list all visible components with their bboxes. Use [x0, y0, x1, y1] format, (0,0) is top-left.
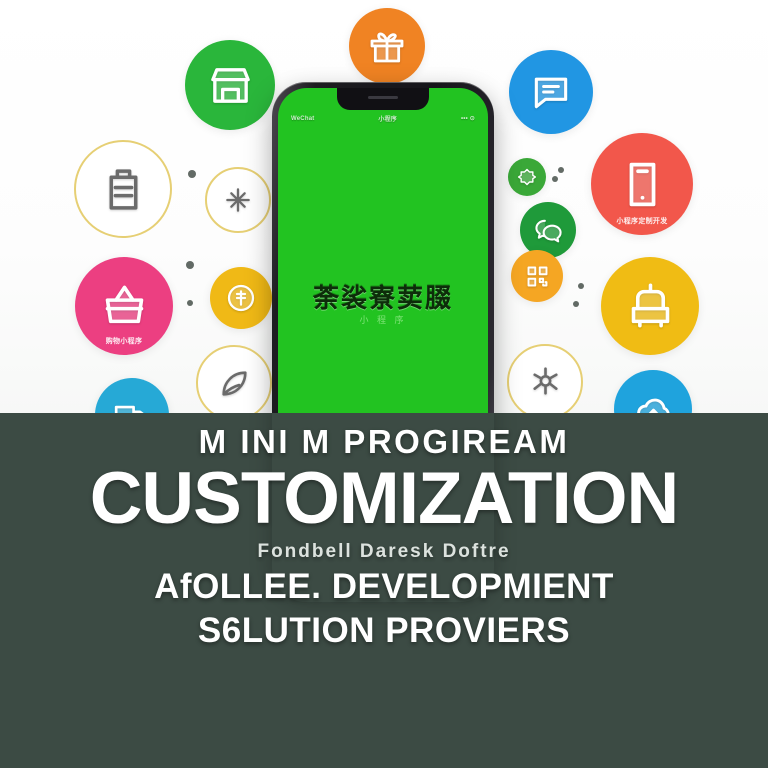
- decorative-dot: [186, 261, 194, 269]
- chat-glyph: [529, 70, 573, 114]
- leaf-glyph: [216, 365, 253, 402]
- headline-block: M INI M PROGIREAM CUSTOMIZATION Fondbell…: [0, 423, 768, 651]
- store-icon: [185, 40, 275, 130]
- decorative-dot: [552, 176, 558, 182]
- decorative-dot: [187, 300, 193, 306]
- flower-glyph: [527, 364, 564, 401]
- sparkle-icon: [205, 167, 271, 233]
- qr-code-icon: [511, 250, 563, 302]
- decorative-dot: [573, 301, 579, 307]
- headline-line-4: AfOLLEE. DEVELOPMIENT: [0, 567, 768, 607]
- basket-glyph: [99, 281, 150, 332]
- seat-glyph: [625, 281, 676, 332]
- app-glyph: [616, 158, 669, 211]
- flower-icon: [507, 344, 583, 414]
- screen-headline-primary: 荼裟寮荬腏: [278, 278, 488, 315]
- bubble-caption: 小程序定制开发: [591, 216, 693, 226]
- status-title: 小程序: [314, 114, 461, 123]
- cloud-glyph: [633, 389, 674, 415]
- coin-glyph: [225, 282, 257, 314]
- sparkle-glyph: [222, 184, 254, 216]
- headline-line-3: Fondbell Daresk Doftre: [0, 541, 768, 563]
- status-left: WeChat: [291, 116, 314, 122]
- document-icon: [74, 140, 172, 238]
- gift-glyph: [367, 26, 407, 66]
- phone-speaker: [368, 96, 398, 99]
- chat-bubble-icon: [509, 50, 593, 134]
- badge-icon: [508, 158, 546, 196]
- mobile-app-icon: 小程序定制开发: [591, 133, 693, 235]
- status-right: ••• ⊙: [461, 115, 475, 122]
- headline-line-2: CUSTOMIZATION: [0, 463, 768, 535]
- poster-canvas: 购物小程序小程序定制开发 WeChat 小程序 ••• ⊙ 荼裟寮荬腏 小 程 …: [0, 0, 768, 768]
- gift-icon: [349, 8, 425, 84]
- document-glyph: [99, 165, 148, 214]
- truck-icon: [95, 378, 169, 414]
- phone-notch: [337, 88, 429, 110]
- leaf-icon: [196, 345, 272, 414]
- user-seat-icon: [601, 257, 699, 355]
- wechat-icon: [520, 202, 576, 258]
- truck-glyph: [113, 396, 151, 414]
- headline-line-1: M INI M PROGIREAM: [0, 423, 768, 461]
- phone-status-bar: WeChat 小程序 ••• ⊙: [278, 114, 488, 123]
- store-glyph: [207, 62, 254, 109]
- wechat-glyph: [534, 216, 563, 245]
- cloud-upload-icon: [614, 370, 692, 414]
- decorative-dot: [188, 170, 196, 178]
- screen-subheadline: 小 程 序: [278, 313, 488, 326]
- badge-glyph: [517, 167, 537, 187]
- shopping-basket-icon: 购物小程序: [75, 257, 173, 355]
- bubble-caption: 购物小程序: [75, 336, 173, 346]
- qr-glyph: [524, 263, 551, 290]
- coin-icon: [210, 267, 272, 329]
- headline-line-5: S6LUTION PROVIERS: [0, 611, 768, 651]
- decorative-dot: [558, 167, 564, 173]
- decorative-dot: [578, 283, 584, 289]
- headline-banner: M INI M PROGIREAM CUSTOMIZATION Fondbell…: [0, 413, 768, 768]
